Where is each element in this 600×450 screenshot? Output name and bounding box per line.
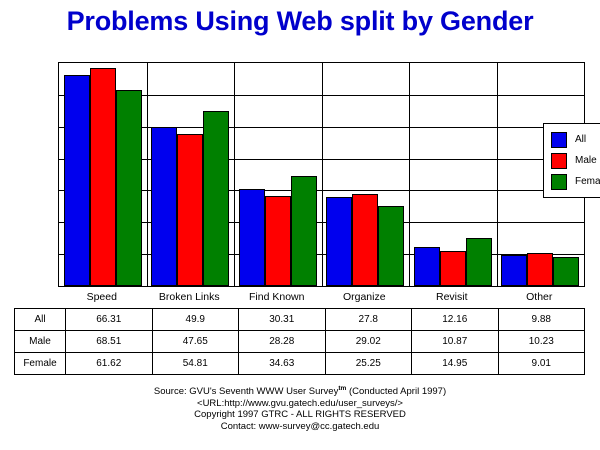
bar bbox=[414, 247, 440, 286]
bar-group bbox=[64, 63, 142, 286]
legend-item: All bbox=[544, 129, 600, 150]
gridline-vertical bbox=[234, 63, 235, 286]
table-cell: 66.31 bbox=[66, 309, 153, 331]
table-cell: 34.63 bbox=[239, 353, 326, 375]
bar bbox=[239, 189, 265, 286]
bar bbox=[90, 68, 116, 286]
legend-label: Female bbox=[575, 176, 600, 187]
x-tick-label: Broken Links bbox=[146, 291, 234, 303]
plot-area: Percent 010203040506070 AllMaleFemale bbox=[58, 62, 585, 287]
footer-url[interactable]: <URL:http://www.gvu.gatech.edu/user_surv… bbox=[0, 398, 600, 410]
x-tick-label: Speed bbox=[58, 291, 146, 303]
table-cell: 10.87 bbox=[412, 331, 499, 353]
legend-swatch-icon bbox=[551, 132, 567, 148]
table-cell: 10.23 bbox=[498, 331, 585, 353]
bar bbox=[466, 238, 492, 286]
bar bbox=[64, 75, 90, 286]
legend: AllMaleFemale bbox=[543, 123, 600, 198]
table-row: All66.3149.930.3127.812.169.88 bbox=[15, 309, 585, 331]
bar bbox=[527, 253, 553, 286]
bar bbox=[151, 127, 177, 286]
footer-source-suffix: (Conducted April 1997) bbox=[346, 386, 446, 397]
table-cell: 25.25 bbox=[325, 353, 412, 375]
gridline-vertical bbox=[497, 63, 498, 286]
bar bbox=[553, 257, 579, 286]
bar bbox=[116, 90, 142, 286]
table-cell: 30.31 bbox=[239, 309, 326, 331]
legend-item: Female bbox=[544, 171, 600, 192]
bar-group bbox=[326, 63, 404, 286]
gridline-vertical bbox=[322, 63, 323, 286]
footer: Source: GVU's Seventh WWW User Surveytm … bbox=[0, 383, 600, 432]
table-cell: 14.95 bbox=[412, 353, 499, 375]
x-tick-label: Other bbox=[496, 291, 584, 303]
footer-copyright: Copyright 1997 GTRC - ALL RIGHTS RESERVE… bbox=[0, 409, 600, 421]
table-row-header: Male bbox=[15, 331, 66, 353]
bar bbox=[378, 206, 404, 286]
bar-group bbox=[239, 63, 317, 286]
bar bbox=[501, 255, 527, 286]
table-cell: 68.51 bbox=[66, 331, 153, 353]
table-cell: 47.65 bbox=[152, 331, 239, 353]
bar bbox=[177, 134, 203, 286]
table-cell: 12.16 bbox=[412, 309, 499, 331]
legend-swatch-icon bbox=[551, 174, 567, 190]
footer-source: Source: GVU's Seventh WWW User Surveytm … bbox=[0, 383, 600, 398]
table-cell: 28.28 bbox=[239, 331, 326, 353]
x-tick-label: Organize bbox=[321, 291, 409, 303]
legend-swatch-icon bbox=[551, 153, 567, 169]
table-row: Male68.5147.6528.2829.0210.8710.23 bbox=[15, 331, 585, 353]
x-tick-label: Find Known bbox=[233, 291, 321, 303]
bar bbox=[440, 251, 466, 286]
bar bbox=[352, 194, 378, 286]
bar bbox=[265, 196, 291, 286]
bar-group bbox=[414, 63, 492, 286]
table-cell: 9.88 bbox=[498, 309, 585, 331]
table-cell: 54.81 bbox=[152, 353, 239, 375]
table-cell: 29.02 bbox=[325, 331, 412, 353]
legend-label: All bbox=[575, 134, 586, 145]
legend-label: Male bbox=[575, 155, 597, 166]
bar bbox=[326, 197, 352, 286]
gridline-vertical bbox=[147, 63, 148, 286]
table-cell: 27.8 bbox=[325, 309, 412, 331]
footer-contact[interactable]: Contact: www-survey@cc.gatech.edu bbox=[0, 421, 600, 433]
table-cell: 61.62 bbox=[66, 353, 153, 375]
bar-group bbox=[151, 63, 229, 286]
table-cell: 49.9 bbox=[152, 309, 239, 331]
table-cell: 9.01 bbox=[498, 353, 585, 375]
bar bbox=[203, 111, 229, 286]
table-row: Female61.6254.8134.6325.2514.959.01 bbox=[15, 353, 585, 375]
page-title: Problems Using Web split by Gender bbox=[0, 6, 600, 37]
bar bbox=[291, 176, 317, 286]
x-tick-label: Revisit bbox=[408, 291, 496, 303]
table-row-header: All bbox=[15, 309, 66, 331]
table-row-header: Female bbox=[15, 353, 66, 375]
gridline-vertical bbox=[409, 63, 410, 286]
footer-source-prefix: Source: GVU's Seventh WWW User Survey bbox=[154, 386, 338, 397]
legend-item: Male bbox=[544, 150, 600, 171]
data-table: All66.3149.930.3127.812.169.88Male68.514… bbox=[14, 308, 585, 375]
